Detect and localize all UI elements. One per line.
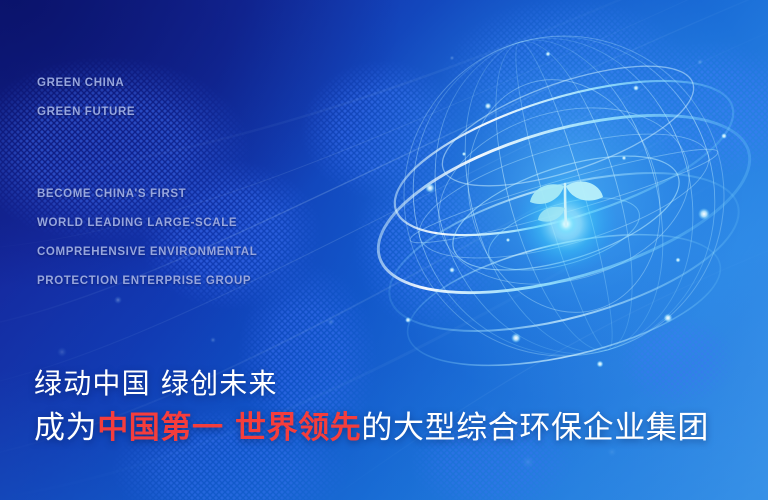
slogan-line-world-leading: WORLD LEADING LARGE-SCALE — [37, 209, 257, 238]
headline-prefix: 成为 — [34, 410, 97, 446]
slogan-line-comprehensive: COMPREHENSIVE ENVIRONMENTAL — [37, 238, 257, 267]
globe-svg — [368, 8, 768, 398]
slogan-line-green-future: GREEN FUTURE — [37, 98, 135, 127]
headline-highlight: 中国第一 世界领先 — [97, 410, 361, 446]
chinese-headline: 绿动中国 绿创未来 成为中国第一 世界领先的大型综合环保企业集团 — [34, 363, 709, 451]
wireframe-globe — [368, 8, 768, 398]
headline-line-2: 成为中国第一 世界领先的大型综合环保企业集团 — [34, 405, 709, 451]
slogan-line-green-china: GREEN CHINA — [37, 69, 135, 98]
hero-banner: GREEN CHINA GREEN FUTURE BECOME CHINA'S … — [0, 0, 768, 500]
slogan-line-become-first: BECOME CHINA'S FIRST — [37, 180, 257, 209]
headline-line-1: 绿动中国 绿创未来 — [34, 363, 709, 405]
english-slogan-main: BECOME CHINA'S FIRST WORLD LEADING LARGE… — [37, 180, 257, 296]
english-slogan-top: GREEN CHINA GREEN FUTURE — [37, 69, 135, 127]
headline-suffix: 的大型综合环保企业集团 — [361, 410, 709, 446]
slogan-line-protection-group: PROTECTION ENTERPRISE GROUP — [37, 267, 257, 296]
